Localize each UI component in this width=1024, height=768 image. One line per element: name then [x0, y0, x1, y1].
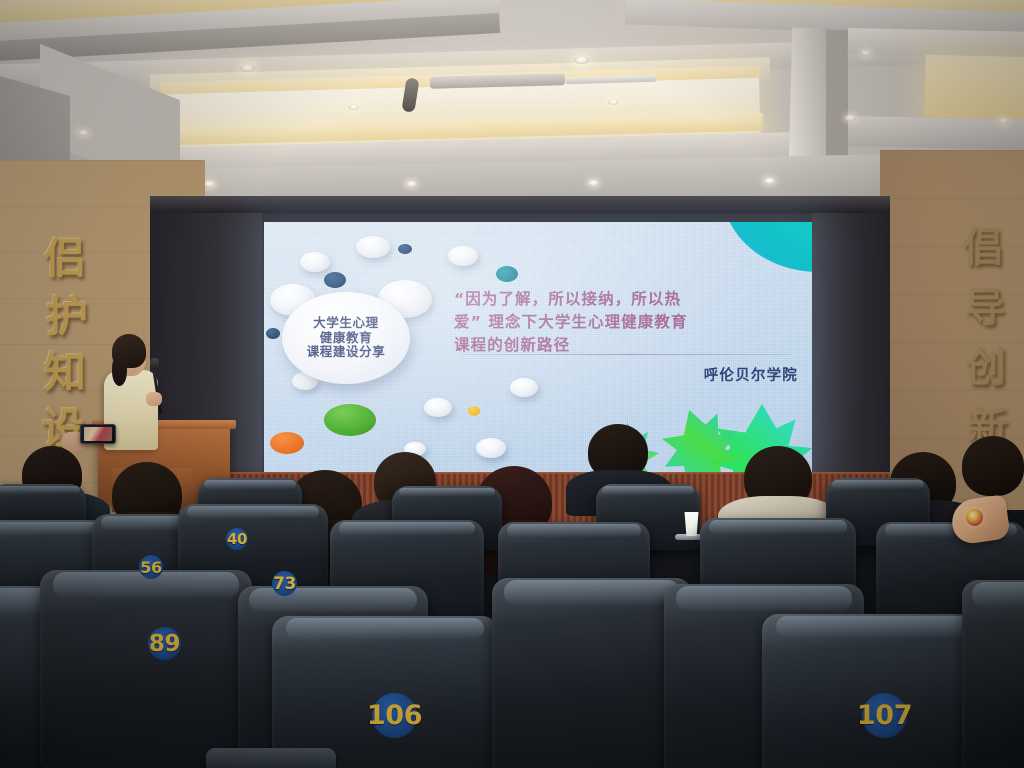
- seat-rim: [399, 488, 496, 496]
- slide-pebble-white: [448, 246, 478, 266]
- auditorium-seat-107[interactable]: [762, 614, 992, 768]
- ceiling-spotlight: [406, 181, 417, 187]
- wall-calligraphy-right-3: 创: [966, 348, 1006, 388]
- presenter-hand: [146, 392, 162, 406]
- ceiling-spotlight: [574, 56, 589, 64]
- slide-pebble-white: [300, 252, 330, 272]
- audience-head: [962, 436, 1024, 496]
- wall-calligraphy-left-1: 侣: [44, 238, 86, 280]
- slide-divider-rule: [460, 354, 790, 355]
- slide-corner-blob-icon: [722, 222, 812, 272]
- slide-topic-badge: 大学生心理 健康教育 课程建设分享: [282, 292, 410, 384]
- seat-rim: [676, 586, 852, 611]
- badge-line-1: 大学生心理: [313, 316, 379, 331]
- slide-title: “因为了解，所以接纳，所以热 爱” 理念下大学生心理健康教育 课程的创新路径: [454, 288, 798, 357]
- seat-number-56: 56: [139, 555, 163, 579]
- wall-calligraphy-right-2: 导: [965, 288, 1005, 328]
- seat-rim: [504, 580, 680, 605]
- seat-rim: [0, 486, 80, 494]
- ceiling-spotlight: [608, 99, 619, 105]
- ceiling-spotlight: [240, 64, 255, 72]
- ceiling-spotlight: [204, 181, 215, 187]
- wall-calligraphy-left-3: 知: [44, 352, 86, 394]
- lecture-hall-photo: 侣 护 知 设 倡 导 创 新 大学生心理 健康教育 课程建设分享: [0, 0, 1024, 768]
- seat-rim: [0, 522, 101, 535]
- seat-number-89: 89: [148, 627, 181, 660]
- slide-title-line-2-accent: 爱” 理念下大学生心理健康教育: [454, 313, 688, 331]
- ceiling-spotlight: [860, 50, 871, 56]
- badge-line-2: 健康教育: [320, 331, 372, 346]
- wall-calligraphy-left-2: 护: [46, 296, 88, 338]
- auditorium-seat-106[interactable]: [272, 616, 498, 768]
- ceiling-spotlight: [588, 180, 599, 186]
- slide-pebble-teal: [496, 266, 518, 282]
- presentation-screen[interactable]: 大学生心理 健康教育 课程建设分享 “因为了解，所以接纳，所以热 爱” 理念下大…: [264, 222, 812, 480]
- slide-pebble-green: [324, 404, 376, 436]
- auditorium-seat[interactable]: [492, 578, 692, 768]
- seat-number-40: 40: [226, 528, 248, 550]
- slide-pebble-white: [424, 398, 452, 417]
- phone-screen: [84, 427, 112, 441]
- slide-title-line-2: 爱” 理念下大学生心理健康教育: [454, 311, 798, 334]
- seat-number-106: 106: [372, 693, 417, 738]
- seat-rim: [204, 480, 296, 489]
- seat-number-107: 107: [862, 693, 907, 738]
- seat-rim: [972, 582, 1024, 607]
- slide-pebble-navy: [266, 328, 280, 339]
- seat-armrest: [206, 748, 336, 768]
- ceiling-spotlight: [998, 118, 1009, 124]
- wall-calligraphy-right-1: 倡: [963, 228, 1003, 268]
- slide-pebble-orange: [270, 432, 304, 454]
- auditorium-seat[interactable]: [962, 580, 1024, 768]
- slide-affiliation: 呼伦贝尔学院: [454, 364, 798, 385]
- slide-pebble-white: [356, 236, 390, 258]
- ceiling-spotlight: [845, 115, 856, 121]
- auditorium-seat[interactable]: [40, 570, 252, 768]
- seat-rim: [602, 486, 694, 495]
- badge-line-3: 课程建设分享: [307, 345, 386, 360]
- ceiling-spotlight: [764, 178, 775, 184]
- seat-rim: [339, 522, 475, 535]
- ring-icon: [966, 509, 983, 526]
- slide-pebble-navy: [324, 272, 346, 288]
- ceiling-spotlight: [348, 104, 359, 110]
- seat-rim: [187, 506, 319, 518]
- slide-pebble-yellow: [468, 406, 480, 416]
- seat-rim: [507, 524, 641, 537]
- slide-pebble-navy: [398, 244, 412, 254]
- microphone-icon: [150, 358, 159, 370]
- seat-rim: [832, 480, 924, 489]
- seat-rim: [709, 520, 846, 534]
- slide-pebble-white: [476, 438, 506, 458]
- smartphone-recording[interactable]: [80, 424, 116, 444]
- screen-soffit: [150, 196, 890, 213]
- seat-rim: [776, 616, 978, 637]
- slide-title-line-1: “因为了解，所以接纳，所以热: [454, 288, 798, 311]
- seat-number-73: 73: [272, 571, 297, 596]
- presenter-hair-side: [112, 356, 127, 386]
- screen-recess-right: [812, 196, 890, 486]
- seat-rim: [286, 618, 485, 639]
- ceiling-spotlight: [78, 130, 89, 136]
